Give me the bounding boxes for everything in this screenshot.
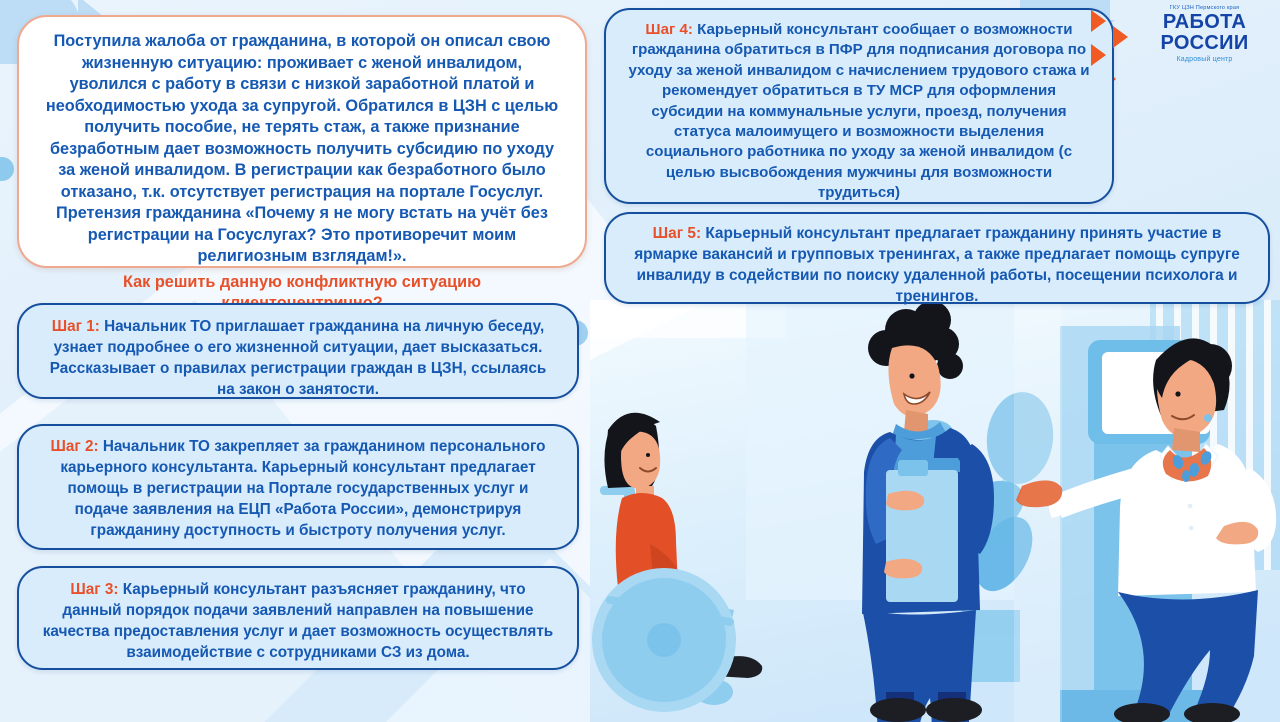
step-card-2: Шаг 2: Начальник ТО закрепляет за гражда… (17, 424, 579, 550)
step-4-label: Шаг 4: (645, 21, 692, 38)
step-card-4: Шаг 4: Карьерный консультант сообщает о … (604, 8, 1114, 204)
problem-statement-card: Поступила жалоба от гражданина, в которо… (17, 15, 587, 268)
step-1-label: Шаг 1: (52, 318, 100, 335)
logo-line-1: РАБОТА (1137, 12, 1272, 33)
logo-line-2: РОССИИ (1137, 33, 1272, 54)
step-4-text: Карьерный консультант сообщает о возможн… (628, 21, 1089, 201)
office-illustration (590, 300, 1280, 722)
logo-subtitle: Кадровый центр (1137, 56, 1272, 63)
step-card-1: Шаг 1: Начальник ТО приглашает гражданин… (17, 303, 579, 399)
step-1-text: Начальник ТО приглашает гражданина на ли… (50, 318, 547, 398)
rabota-rossii-logo: ГКУ ЦЗН Пермского края РАБОТА РОССИИ Кад… (1097, 4, 1272, 74)
problem-question-line-1: Как решить данную конфликтную ситуацию (123, 273, 481, 291)
step-2-label: Шаг 2: (51, 438, 99, 455)
step-card-3: Шаг 3: Карьерный консультант разъясняет … (17, 566, 579, 670)
step-card-5: Шаг 5: Карьерный консультант предлагает … (604, 212, 1270, 304)
step-5-text: Карьерный консультант предлагает граждан… (634, 225, 1240, 305)
infographic-canvas: Поступила жалоба от гражданина, в которо… (0, 0, 1280, 722)
step-3-label: Шаг 3: (70, 581, 118, 598)
problem-body-text: Поступила жалоба от гражданина, в которо… (46, 32, 558, 265)
decorative-dot-2 (0, 157, 14, 181)
step-2-text: Начальник ТО закрепляет за гражданином п… (60, 438, 545, 539)
step-3-text: Карьерный консультант разъясняет граждан… (43, 581, 553, 661)
step-5-label: Шаг 5: (653, 225, 701, 242)
